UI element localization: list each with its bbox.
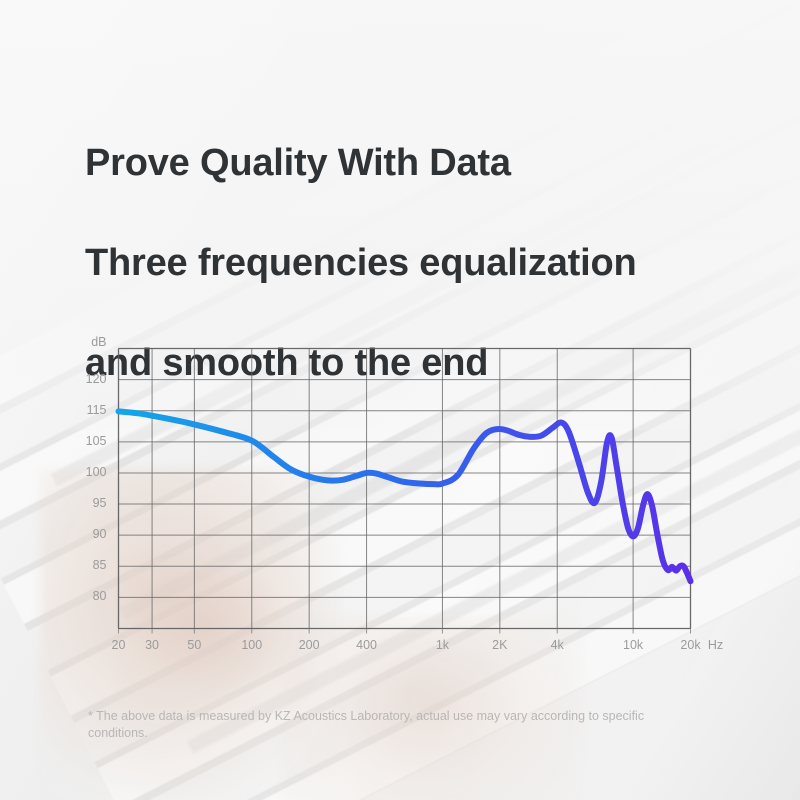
x-axis-tick-label: 200 (287, 638, 331, 652)
y-axis-tick-label: 85 (55, 558, 107, 572)
x-axis-tick-label: 100 (230, 638, 274, 652)
x-axis-unit-label: Hz (699, 638, 733, 652)
y-axis-tick-label: 115 (55, 403, 107, 417)
y-axis-tick-label: 120 (55, 372, 107, 386)
x-axis-tick-label: 2K (478, 638, 522, 652)
frequency-response-curve (119, 411, 691, 581)
x-axis-tick-label: 1k (420, 638, 464, 652)
y-axis-tick-label: 95 (55, 496, 107, 510)
frequency-response-plot (0, 0, 800, 800)
y-axis-tick-label: 105 (55, 434, 107, 448)
y-axis-tick-label: 90 (55, 527, 107, 541)
promo-banner: Prove Quality With Data Three frequencie… (0, 0, 800, 800)
chart-frame (119, 349, 691, 629)
x-axis-tick-label: 10k (611, 638, 655, 652)
x-axis-tick-label: 4k (535, 638, 579, 652)
x-axis-tick-label: 50 (172, 638, 216, 652)
chart-gridlines (119, 349, 691, 629)
chart-axis-ticks (119, 629, 691, 634)
x-axis-tick-label: 400 (345, 638, 389, 652)
y-axis-tick-label: 80 (55, 589, 107, 603)
frequency-response-chart: dB12011510510095908580 2030501002004001k… (0, 0, 800, 800)
x-axis-tick-label: 30 (130, 638, 174, 652)
y-axis-unit-label: dB (55, 335, 107, 349)
y-axis-tick-label: 100 (55, 465, 107, 479)
disclaimer-footnote: * The above data is measured by KZ Acous… (88, 708, 648, 742)
